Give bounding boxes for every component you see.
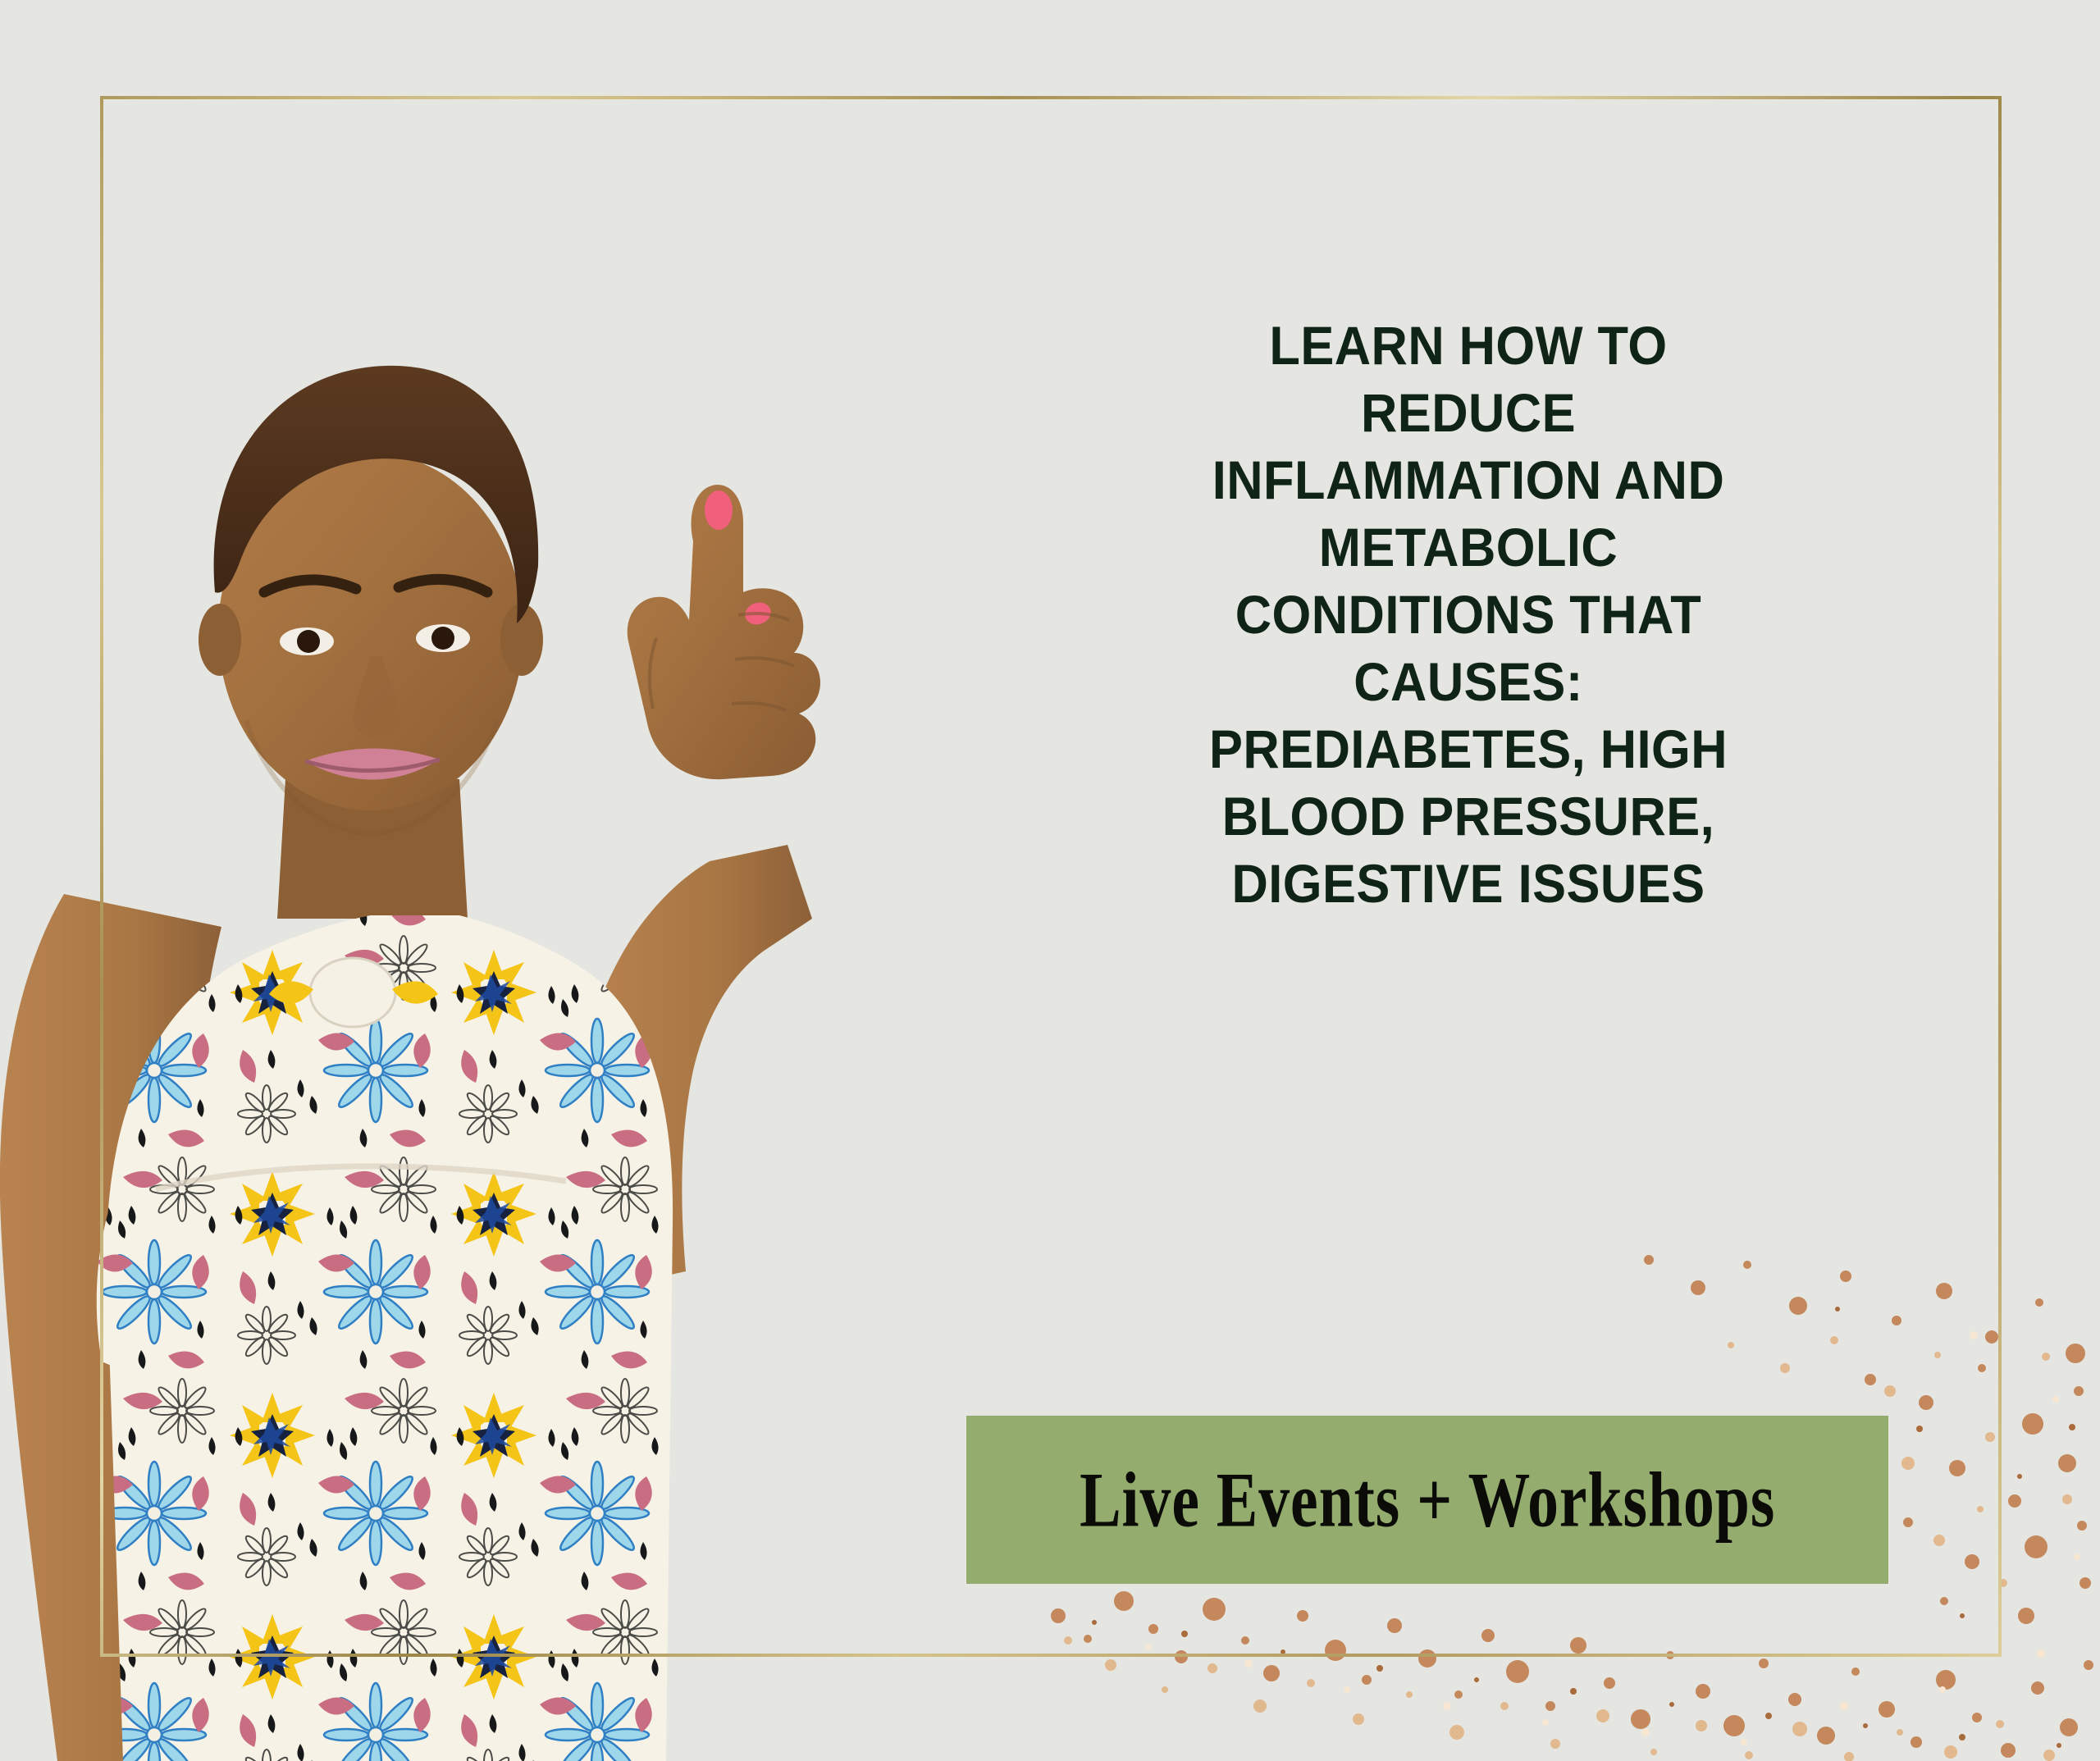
- speaker-photo: [0, 271, 1091, 1761]
- headline-line-6: CAUSES:: [1018, 648, 1918, 715]
- fingernail: [705, 490, 733, 530]
- headline: LEARN HOW TO REDUCE INFLAMMATION AND MET…: [1018, 312, 1918, 917]
- promo-graphic-canvas: LEARN HOW TO REDUCE INFLAMMATION AND MET…: [0, 0, 2100, 1761]
- headline-line-1: LEARN HOW TO: [1018, 312, 1918, 379]
- headline-line-8: BLOOD PRESSURE,: [1018, 782, 1918, 850]
- headline-line-2: REDUCE: [1018, 379, 1918, 446]
- headline-line-5: CONDITIONS THAT: [1018, 581, 1918, 648]
- live-events-workshops-banner[interactable]: Live Events + Workshops: [966, 1416, 1888, 1584]
- headline-line-3: INFLAMMATION AND: [1018, 446, 1918, 513]
- pointing-hand: [628, 485, 820, 779]
- headline-line-9: DIGESTIVE ISSUES: [1018, 850, 1918, 917]
- head: [199, 366, 543, 833]
- headline-line-7: PREDIABETES, HIGH: [1018, 715, 1918, 782]
- cta-label: Live Events + Workshops: [1080, 1461, 1775, 1539]
- headline-line-4: METABOLIC: [1018, 513, 1918, 581]
